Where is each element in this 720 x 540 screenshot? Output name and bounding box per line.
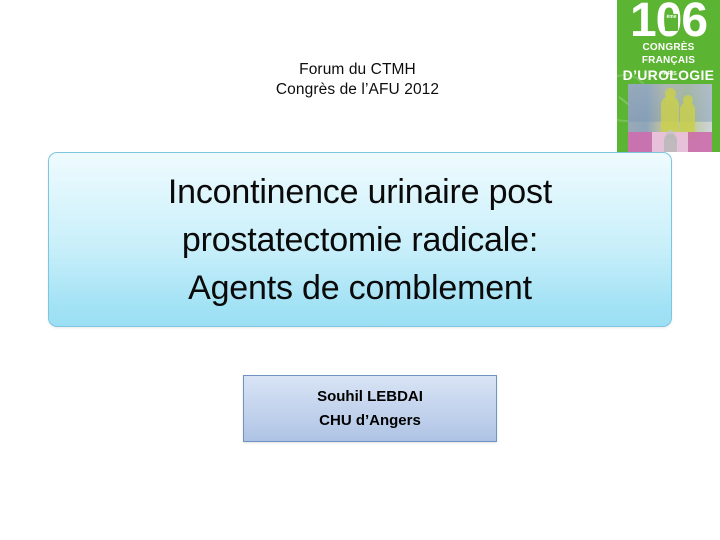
slide-title-box: Incontinence urinaire post prostatectomi…: [48, 152, 672, 327]
logo-band-figure-body: [664, 134, 677, 152]
congress-logo: 106 ème CONGRÈS FRANÇAIS D’UROLOGIE PARI…: [617, 0, 720, 152]
header-line-forum: Forum du CTMH: [0, 60, 715, 80]
logo-photo-image: [628, 84, 712, 152]
slide-title-text: Incontinence urinaire post prostatectomi…: [49, 168, 671, 312]
logo-name-line1: CONGRÈS FRANÇAIS: [617, 41, 720, 67]
header-line-congress: Congrès de l’AFU 2012: [0, 80, 715, 100]
title-line-2: prostatectomie radicale:: [49, 216, 671, 264]
title-line-3: Agents de comblement: [49, 264, 671, 312]
title-line-1: Incontinence urinaire post: [49, 168, 671, 216]
logo-place-line: PARIS: [617, 70, 720, 78]
author-name: Souhil LEBDAI: [317, 385, 423, 409]
author-box: Souhil LEBDAI CHU d’Angers: [243, 375, 497, 442]
author-affiliation: CHU d’Angers: [319, 409, 421, 433]
logo-ordinal-suffix: ème: [665, 14, 678, 31]
slide-header: Forum du CTMH Congrès de l’AFU 2012: [0, 60, 715, 100]
presentation-slide: Forum du CTMH Congrès de l’AFU 2012 106 …: [0, 0, 720, 540]
